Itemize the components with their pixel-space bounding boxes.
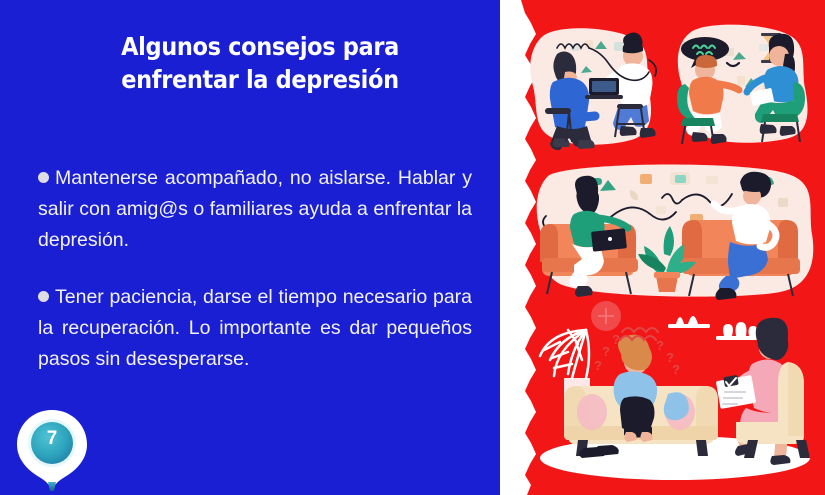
illustration-living-room-talk [530,158,825,306]
tips-list: Mantenerse acompañado, no aislarse. Habl… [38,163,472,401]
palm-plant-decor [540,330,589,378]
map-pin-shape-icon [14,408,90,492]
shelf-decor [668,316,760,340]
svg-text:?: ? [612,332,620,347]
bullet-dot-icon [38,172,49,183]
tip-text: Tener paciencia, darse el tiempo necesar… [38,286,472,370]
list-item: Mantenerse acompañado, no aislarse. Habl… [38,163,472,256]
blue-background-panel: Algunos consejos para enfrentar la depre… [0,0,500,495]
illustration-counseling-pair [513,8,825,160]
illustration-therapy-session: ?? ?? ?? [520,300,825,492]
svg-text:?: ? [594,358,602,373]
list-item: Tener paciencia, darse el tiempo necesar… [38,282,472,375]
page-number-badge: 7 [14,408,90,492]
tip-text: Mantenerse acompañado, no aislarse. Habl… [38,167,472,251]
page-title: Algunos consejos para enfrentar la depre… [80,30,440,96]
red-background-panel: ?? ?? ?? [505,0,825,495]
bullet-dot-icon [38,291,49,302]
svg-text:?: ? [656,338,664,353]
svg-text:?: ? [602,344,610,359]
slide-canvas: Algunos consejos para enfrentar la depre… [0,0,825,495]
svg-text:?: ? [672,362,680,377]
